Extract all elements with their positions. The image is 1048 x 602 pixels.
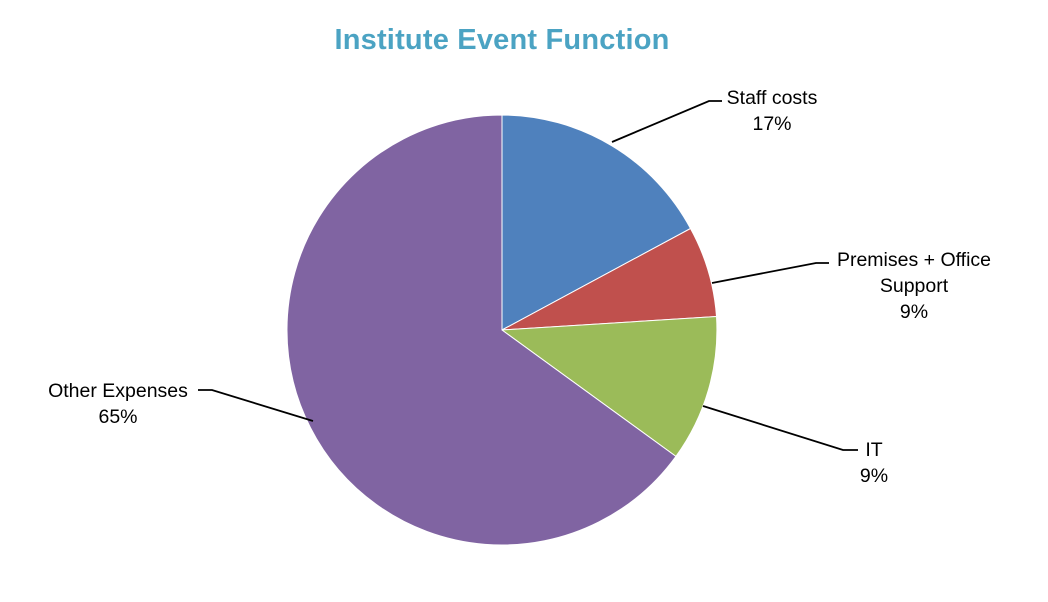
pie-chart-figure: Institute Event Function Staff costs 17%…: [0, 0, 1048, 602]
leader-line-it: [703, 406, 858, 450]
leader-line-premises-office-support: [712, 263, 829, 283]
slice-label-it-name: IT: [865, 439, 882, 461]
slice-label-premises-value: 9%: [900, 301, 928, 323]
leader-line-staff-costs: [612, 101, 722, 142]
slice-label-premises-name-line2: Support: [880, 275, 949, 297]
slice-label-it-value: 9%: [860, 465, 888, 487]
slice-label-other-name: Other Expenses: [48, 380, 188, 402]
slice-label-other-value: 65%: [98, 406, 137, 428]
leader-line-other-expenses: [198, 390, 313, 421]
chart-canvas: Institute Event Function Staff costs 17%…: [0, 0, 1048, 602]
slice-label-staff-costs-value: 17%: [752, 113, 791, 135]
slice-label-premises-name-line1: Premises + Office: [837, 249, 991, 271]
slice-label-staff-costs-name: Staff costs: [727, 87, 818, 109]
page-title: Institute Event Function: [334, 24, 669, 56]
